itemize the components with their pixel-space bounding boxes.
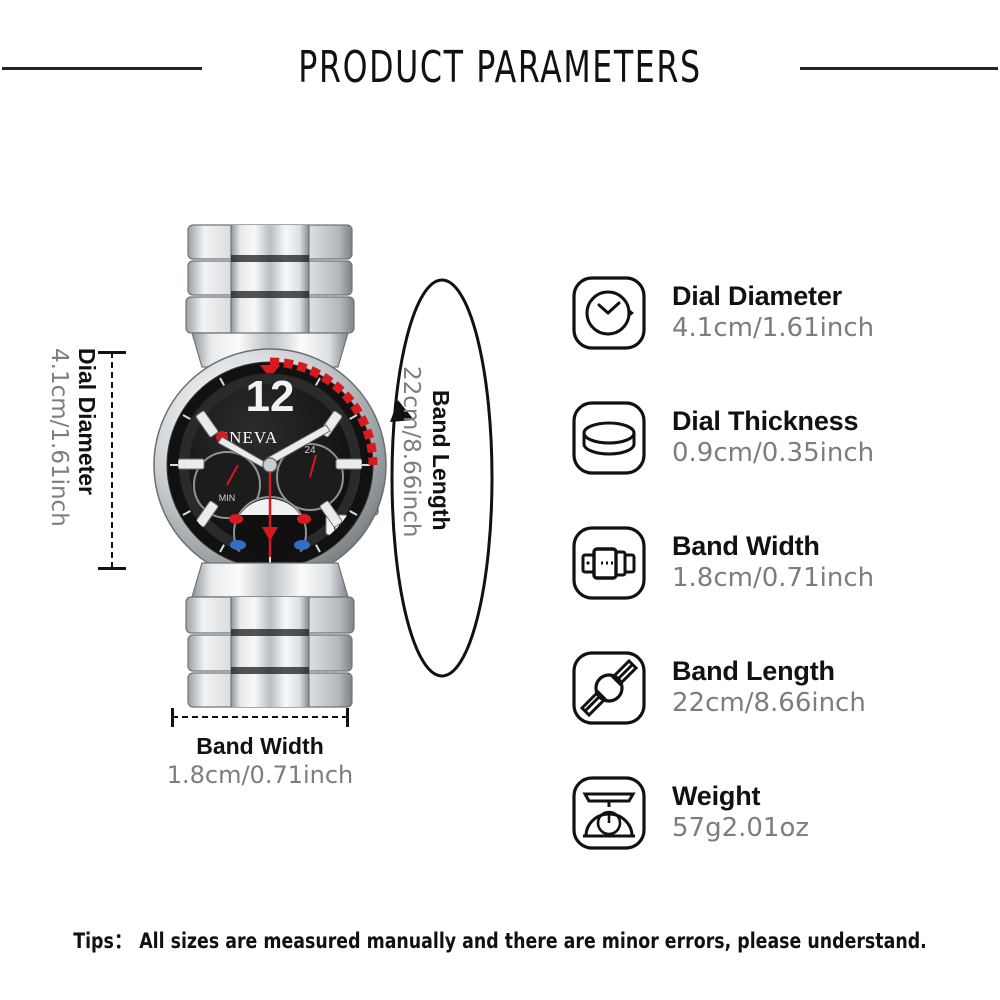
dimension-line-vertical (111, 352, 113, 568)
dimension-cap-left (171, 708, 174, 727)
spec-label: Dial Diameter (672, 280, 874, 313)
spec-row-weight: Weight 57g2.01oz (568, 750, 968, 875)
watch-bracelet-upper (186, 225, 354, 367)
spec-text: Dial Thickness 0.9cm/0.35inch (672, 405, 874, 470)
callout-band-width-value: 1.8cm/0.71inch (150, 761, 370, 789)
product-parameters-page: PRODUCT PARAMETERS (0, 0, 1000, 1000)
spec-value: 1.8cm/0.71inch (672, 563, 874, 595)
spec-text: Band Length 22cm/8.66inch (672, 655, 866, 720)
svg-text:MIN: MIN (219, 493, 236, 503)
callout-band-length-label: Band Length (427, 390, 454, 531)
strap-buckle-icon (568, 522, 650, 604)
dimension-line-horizontal (172, 716, 348, 718)
spec-text: Dial Diameter 4.1cm/1.61inch (672, 280, 874, 345)
watch-dial-icon (568, 272, 650, 354)
spec-label: Band Width (672, 530, 874, 563)
svg-text:24: 24 (304, 445, 316, 456)
watch-bracelet-lower (186, 563, 354, 707)
product-image-watch: 12 ENEVA MIN 24 (130, 215, 410, 720)
spec-value: 22cm/8.66inch (672, 688, 866, 720)
spec-row-band-width: Band Width 1.8cm/0.71inch (568, 500, 968, 625)
spec-label: Band Length (672, 655, 866, 688)
footer-tips: Tips： All sizes are measured manually an… (40, 925, 960, 955)
spec-text: Band Width 1.8cm/0.71inch (672, 530, 874, 595)
callout-band-width-label: Band Width (150, 733, 370, 760)
spec-row-dial-diameter: Dial Diameter 4.1cm/1.61inch (568, 250, 968, 375)
callout-dial-diameter: Dial Diameter 4.1cm/1.61inch (40, 340, 140, 580)
dimension-cap-right (346, 708, 349, 727)
spec-row-band-length: Band Length 22cm/8.66inch (568, 625, 968, 750)
callout-band-width: Band Width 1.8cm/0.71inch (150, 705, 400, 795)
spec-list: Dial Diameter 4.1cm/1.61inch Dial Thickn… (568, 250, 968, 875)
dimension-cap-bottom (98, 567, 126, 570)
spec-value: 4.1cm/1.61inch (672, 313, 874, 345)
svg-text:12: 12 (246, 372, 295, 421)
callout-dial-diameter-value: 4.1cm/1.61inch (46, 348, 72, 527)
disc-thickness-icon (568, 397, 650, 479)
callout-band-length-value: 22cm/8.66inch (398, 366, 424, 537)
dimension-cap-top (98, 351, 126, 354)
callout-band-length: Band Length 22cm/8.66inch (380, 270, 500, 690)
spec-value: 0.9cm/0.35inch (672, 438, 874, 470)
spec-label: Dial Thickness (672, 405, 874, 438)
watch-strap-icon (568, 647, 650, 729)
callout-dial-diameter-label: Dial Diameter (73, 348, 100, 495)
spec-row-dial-thickness: Dial Thickness 0.9cm/0.35inch (568, 375, 968, 500)
spec-text: Weight 57g2.01oz (672, 780, 809, 845)
spec-label: Weight (672, 780, 809, 813)
page-header: PRODUCT PARAMETERS (0, 38, 1000, 98)
kitchen-scale-icon (568, 772, 650, 854)
spec-value: 57g2.01oz (672, 813, 809, 845)
watch-illustration: 12 ENEVA MIN 24 (130, 215, 410, 720)
page-title: PRODUCT PARAMETERS (100, 38, 900, 98)
